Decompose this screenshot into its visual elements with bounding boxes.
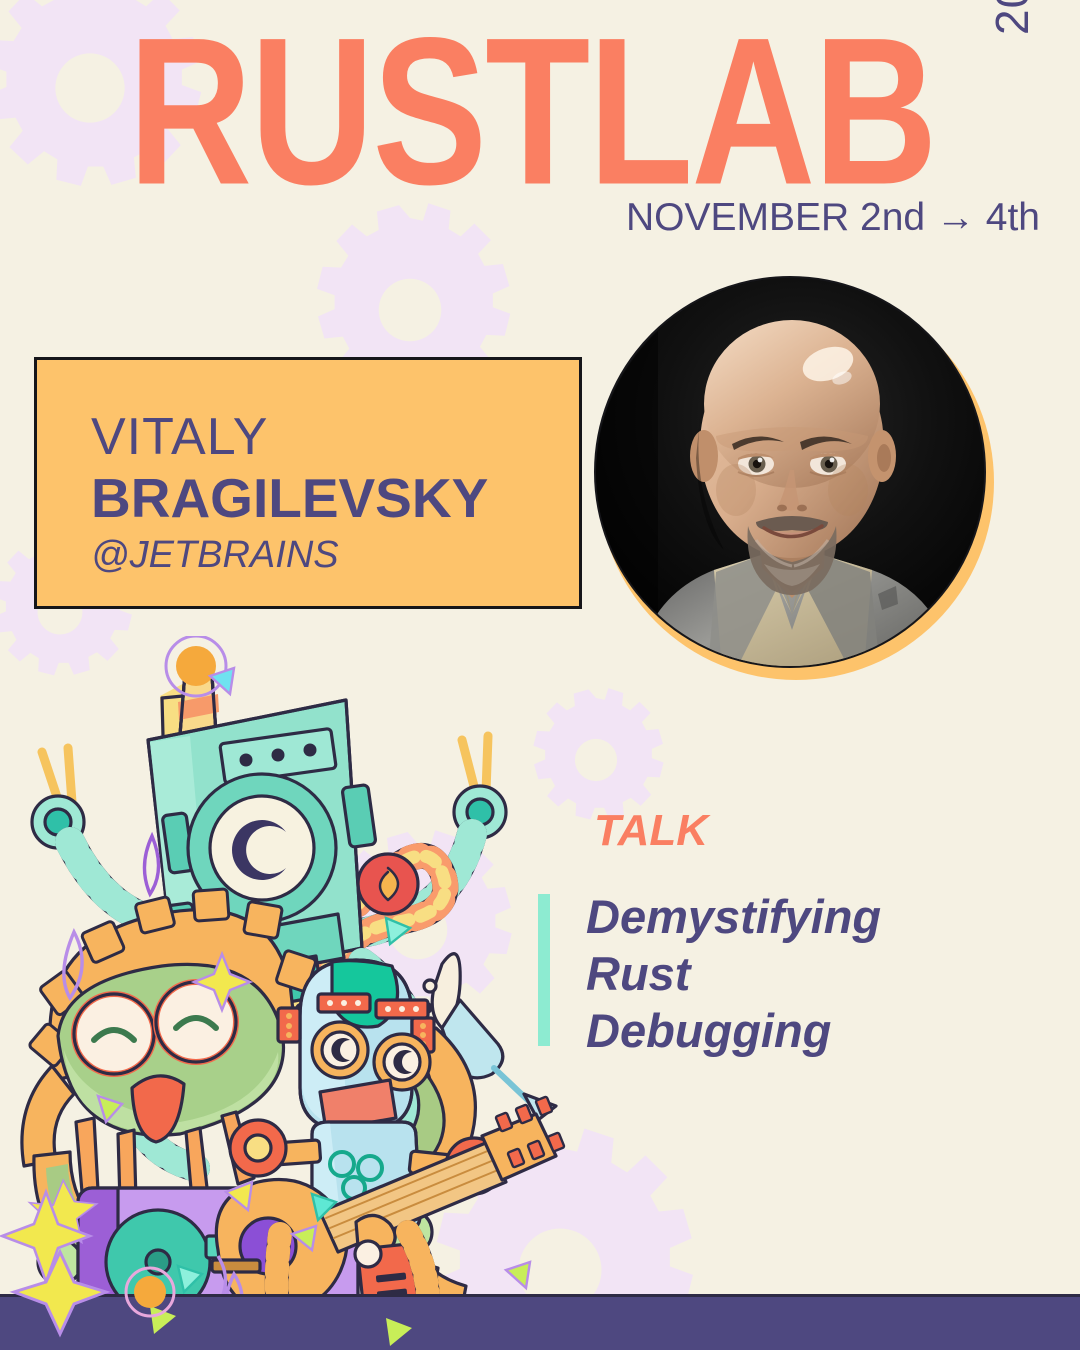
speaker-name-card: VITALY BRAGILEVSKY @JETBRAINS [34,357,582,609]
header: RUSTLAB 2025 NOVEMBER 2nd → 4th [0,0,1080,255]
talk-title: Demystifying Rust Debugging [586,888,1016,1059]
portrait-illustration [596,278,986,668]
talk-title-line: Debugging [586,1002,1016,1059]
speaker-handle: @JETBRAINS [91,530,579,580]
speaker-first-name: VITALY [91,408,579,466]
portrait-circle [594,276,986,668]
bottom-bar [0,1294,1080,1350]
speaker-portrait [594,276,998,680]
speaker-last-name: BRAGILEVSKY [91,466,579,530]
event-dates: NOVEMBER 2nd → 4th [626,196,1040,240]
robot-illustration [0,636,590,1350]
talk-label: TALK [594,806,708,856]
talk-title-line: Rust [586,945,1016,1002]
event-year: 2025 [985,0,1039,35]
speaker-announcement-poster: RUSTLAB 2025 NOVEMBER 2nd → 4th VITALY B… [0,0,1080,1350]
talk-title-line: Demystifying [586,888,1016,945]
event-wordmark: RUSTLAB [128,20,936,203]
